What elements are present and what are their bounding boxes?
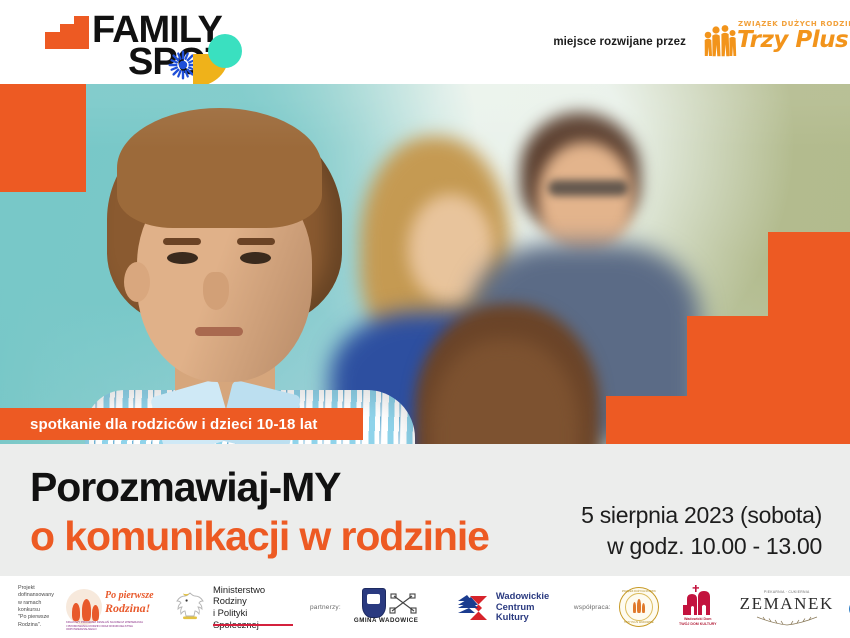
seal-family-icon: ZWIĄZEK DUŻYCH RODZIN TRZY PLUS WADOWICE [619,587,659,627]
title-line-2: o komunikacji w rodzinie [30,511,489,561]
gmina-name: GMINA WADOWICE [354,617,419,624]
event-time: w godz. 10.00 - 13.00 [581,531,822,562]
title-block: Porozmawiaj-MY o komunikacji w rodzinie [30,463,489,561]
wck-logo[interactable]: Wadowickie Centrum Kultury [456,587,564,627]
rodzina-line-2: Rodzina! [105,602,150,615]
poster-canvas: FAMILY SPOT [0,0,850,638]
event-date: 5 sierpnia 2023 (sobota) [581,500,822,531]
family-spot-logo[interactable]: FAMILY SPOT [45,12,240,76]
partners-label-block: partnerzy: [310,604,341,611]
wck-name: Wadowickie Centrum Kultury [496,591,549,623]
funding-note-block: Projekt dofinansowany w ramach konkursu … [18,585,54,629]
header-partner-block: miejsce rozwijane przez [553,18,822,66]
left-stair-step-1 [0,84,68,124]
title-line-1: Porozmawiaj-MY [30,463,489,511]
zemanek-name: ZEMANEK [735,594,839,614]
teal-circle-icon [208,34,242,68]
audience-banner-text: spotkanie dla rodziców i dzieci 10-18 la… [0,416,318,433]
poster-header: FAMILY SPOT [0,0,850,84]
audience-banner: spotkanie dla rodziców i dzieci 10-18 la… [0,408,363,440]
wadowicki-dom-logo[interactable]: Wadowicki Dom TWÓJ DOM KULTURY [669,585,727,629]
rodzina-subtext: KRAJOWY PROGRAM DZIAŁAŃ NA RZECZ WSPIERA… [66,621,158,632]
footer-logo-row: Projekt dofinansowany w ramach konkursu … [0,576,850,638]
trzy-plus-name: Trzy Plus [737,27,848,53]
event-datetime: 5 sierpnia 2023 (sobota) w godz. 10.00 -… [581,500,822,562]
seal-bottom-text: TRZY PLUS WADOWICE [620,621,658,624]
wadowicki-dom-name: Wadowicki Dom TWÓJ DOM KULTURY [669,617,727,626]
zemanek-logo[interactable]: PIEKARNIA · CUKIERNIA ZEMANEK [735,589,839,625]
ministry-logo[interactable]: Ministerstwo Rodziny i Polityki Społeczn… [174,587,294,627]
left-stair-step-2 [0,124,53,158]
orange-stair-icon [45,16,89,49]
funding-note-text: Projekt dofinansowany w ramach konkursu … [18,585,54,629]
left-stair-step-3 [0,158,86,192]
poster-footer: Projekt dofinansowany w ramach konkursu … [0,576,850,638]
lod-pol-name: Lód-Pol [843,598,850,610]
lod-pol-logo[interactable]: Lód-Pol WADOWICE [843,587,850,627]
right-stair-step-1 [768,232,850,316]
partners-label: partnerzy: [310,604,341,611]
left-stair-fill-b [68,84,86,124]
crossed-keys-icon [388,592,418,614]
po-pierwsze-rodzina-logo[interactable]: Po pierwsze Rodzina! KRAJOWY PROGRAM DZI… [66,585,158,629]
zdr-wadowice-seal-logo[interactable]: ZWIĄZEK DUŻYCH RODZIN TRZY PLUS WADOWICE [619,587,659,627]
partner-note: miejsce rozwijane przez [553,36,686,48]
cooperation-label-block: współpraca: [574,604,611,611]
cooperation-label: współpraca: [574,604,611,611]
right-stair-step-2 [687,316,850,396]
polish-eagle-icon [174,590,206,624]
gmina-wadowice-logo[interactable]: GMINA WADOWICE [348,586,446,628]
wck-arrow-icon [456,592,490,622]
seal-top-text: ZWIĄZEK DUŻYCH RODZIN [620,590,658,593]
trzy-plus-logo[interactable]: ZWIĄZEK DUŻYCH RODZIN Trzy Plus [700,18,822,66]
church-building-icon [679,585,715,617]
left-stair-fill-a [53,124,86,158]
ministry-red-bar [213,624,293,626]
family-figures-icon [700,22,738,62]
coat-of-arms-icon [362,588,386,618]
lod-pol-subtext: WADOWICE [843,611,850,615]
wheat-icon [753,613,821,624]
